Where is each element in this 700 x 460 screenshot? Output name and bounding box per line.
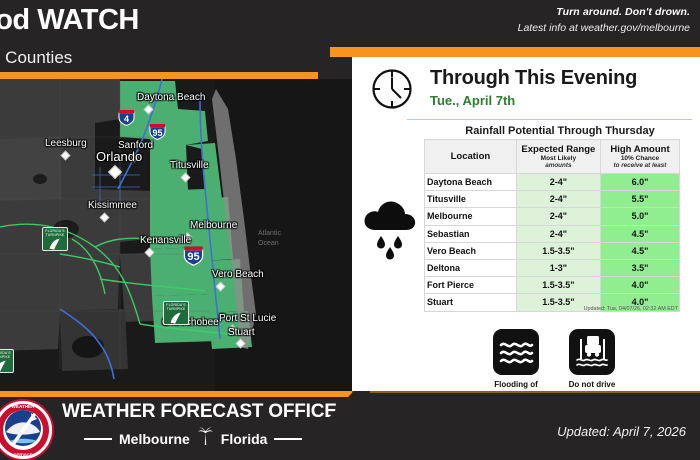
info-panel: Through This Evening Tue., April 7th Rai…	[352, 57, 700, 391]
florida-turnpike-shield-north: FLORIDA'STURNPIKE	[42, 227, 68, 251]
cell-high: 4.5"	[600, 242, 679, 259]
divider-dash	[274, 438, 302, 440]
weather-graphic: ood WATCH stal Counties Turn around. Don…	[0, 0, 700, 460]
col-sub1: 10% Chance	[603, 155, 677, 162]
cell-range: 2-4"	[516, 208, 600, 225]
footer-office-text: WEATHER FORECAST OFFICE Melbourne Florid…	[62, 401, 337, 451]
cell-high: 4.5"	[600, 225, 679, 242]
city-label: Kissimmee	[88, 200, 137, 211]
headline-text: Through This Evening Tue., April 7th	[430, 67, 637, 108]
florida-turnpike-shield-edge: FLORIDA'STURNPIKE	[0, 349, 14, 373]
col-main: Location	[427, 151, 514, 162]
table-title: Rainfall Potential Through Thursday	[420, 125, 700, 137]
table-row: Melbourne 2-4" 5.0"	[425, 208, 680, 225]
cell-range: 1-3"	[516, 259, 600, 276]
city-label: Vero Beach	[212, 269, 264, 280]
cell-location: Sebastian	[425, 225, 517, 242]
florida-turnpike-shield-south: FLORIDA'STURNPIKE	[163, 301, 189, 325]
office-state: Florida	[221, 431, 268, 447]
forecast-map[interactable]: AtlanticOcean Daytona Beach Leesburg San…	[0, 79, 352, 391]
ocean-label: AtlanticOcean	[258, 229, 281, 249]
shield-label: 4	[117, 109, 136, 126]
footer-accent-bar-right	[352, 391, 700, 393]
cell-location: Titusville	[425, 191, 517, 208]
cell-high: 5.0"	[600, 208, 679, 225]
cell-high: 4.0"	[600, 277, 679, 294]
cell-range: 2-4"	[516, 225, 600, 242]
col-sub2: to receive at least	[603, 162, 677, 169]
table-row: Daytona Beach 2-4" 6.0"	[425, 174, 680, 191]
shield-label: 95	[182, 245, 205, 266]
table-row: Deltona 1-3" 3.5"	[425, 259, 680, 276]
svg-text:SERVICE: SERVICE	[13, 453, 32, 458]
svg-text:WEATHER: WEATHER	[12, 404, 36, 409]
col-main: Expected Range	[519, 144, 598, 155]
headline-main: Through This Evening	[430, 67, 637, 90]
nws-logo: WEATHER SERVICE	[0, 399, 54, 460]
office-name: WEATHER FORECAST OFFICE	[62, 401, 337, 423]
interstate-shield-4: 4	[117, 109, 136, 126]
cell-location: Vero Beach	[425, 242, 517, 259]
clock-icon	[370, 67, 414, 116]
cell-location: Fort Pierce	[425, 277, 517, 294]
cell-range: 1.5-3.5"	[516, 242, 600, 259]
accent-bar-right	[330, 47, 700, 57]
rain-cloud-icon	[356, 190, 428, 267]
cell-location: Stuart	[425, 294, 517, 311]
cell-range: 1.5-3.5"	[516, 277, 600, 294]
city-label: Leesburg	[45, 138, 87, 149]
table-updated-note: Updated: Tue, 04/07/26, 02:32 AM EDT	[584, 306, 678, 312]
office-city: Melbourne	[119, 431, 190, 447]
header-right: Turn around. Don't drown. Latest info at…	[518, 6, 690, 34]
cell-high: 3.5"	[600, 259, 679, 276]
city-label: Titusville	[170, 160, 209, 171]
cell-high: 5.5"	[600, 191, 679, 208]
col-main: High Amount	[603, 144, 677, 155]
page-subtitle: stal Counties	[0, 48, 72, 68]
cell-range: 2-4"	[516, 191, 600, 208]
interstate-shield-95-north: 95	[148, 123, 167, 140]
cell-location: Melbourne	[425, 208, 517, 225]
headline-sub: Tue., April 7th	[430, 93, 637, 108]
water-waves-icon	[493, 329, 539, 375]
safety-slogan: Turn around. Don't drown.	[518, 6, 690, 18]
footer: WEATHER SERVICE WEATHER FORECAST OFFICE …	[0, 391, 700, 460]
col-sub1: Most Likely	[519, 155, 598, 162]
accent-bar-left	[0, 72, 352, 79]
city-label: Daytona Beach	[137, 92, 205, 103]
info-link-text: Latest info at weather.gov/melbourne	[518, 22, 690, 34]
office-location: Melbourne Florida	[62, 426, 337, 451]
cell-range: 2-4"	[516, 174, 600, 191]
divider-dash	[84, 438, 112, 440]
table-row: Fort Pierce 1.5-3.5" 4.0"	[425, 277, 680, 294]
cell-high: 6.0"	[600, 174, 679, 191]
table-row: Titusville 2-4" 5.5"	[425, 191, 680, 208]
column-header-location: Location	[425, 140, 517, 174]
table-row: Sebastian 2-4" 4.5"	[425, 225, 680, 242]
column-header-expected-range: Expected Range Most Likely amounts	[516, 140, 600, 174]
col-sub2: amounts	[519, 162, 598, 169]
city-label: Port St Lucie	[219, 313, 276, 324]
city-label: Orlando	[96, 149, 142, 164]
footer-accent-bar	[0, 391, 352, 397]
palm-tree-icon	[197, 426, 214, 451]
divider	[407, 119, 692, 120]
city-label: Melbourne	[190, 220, 237, 231]
rainfall-table: Location Expected Range Most Likely amou…	[424, 139, 680, 312]
page-title: ood WATCH	[0, 4, 139, 37]
column-header-high-amount: High Amount 10% Chance to receive at lea…	[600, 140, 679, 174]
interstate-shield-95-south: 95	[182, 245, 205, 266]
city-label: Stuart	[228, 327, 255, 338]
cell-location: Deltona	[425, 259, 517, 276]
car-in-flood-icon	[569, 329, 615, 375]
table-row: Vero Beach 1.5-3.5" 4.5"	[425, 242, 680, 259]
footer-updated: Updated: April 7, 2026	[557, 424, 686, 439]
headline-row: Through This Evening Tue., April 7th	[352, 59, 700, 117]
table-header-row: Location Expected Range Most Likely amou…	[425, 140, 680, 174]
cell-location: Daytona Beach	[425, 174, 517, 191]
shield-label: 95	[148, 123, 167, 140]
